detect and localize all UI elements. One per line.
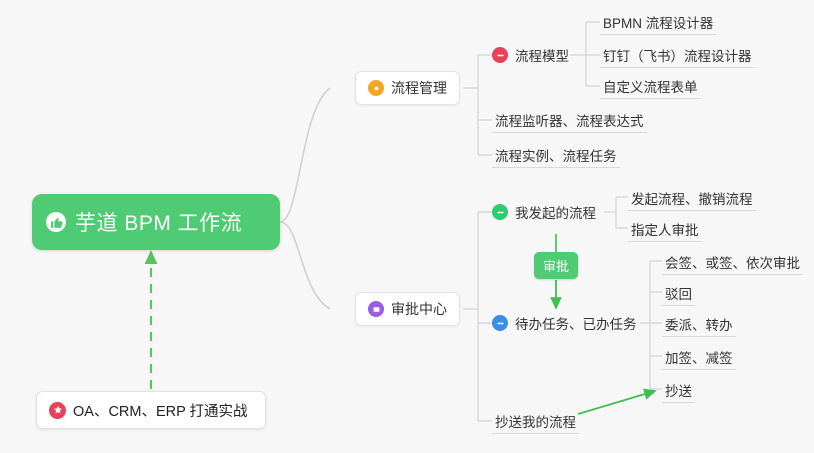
node-label: 流程模型 [515,45,569,65]
node-label: 我发起的流程 [515,202,596,222]
node-listener-expression[interactable]: 流程监听器、流程表达式 [492,107,647,133]
node-label: 抄送 [665,380,692,400]
thumbs-up-icon [46,212,66,232]
node-my-started-process[interactable]: 我发起的流程 [492,199,596,225]
tag-approve[interactable]: 审批 [534,252,578,279]
node-label: 自定义流程表单 [603,76,698,96]
node-add-remove-sign[interactable]: 加签、减签 [662,344,736,370]
minus-circle-icon [492,315,508,331]
node-label: 驳回 [665,283,692,303]
node-process-model[interactable]: 流程模型 [492,42,569,68]
node-bpmn-designer[interactable]: BPMN 流程设计器 [600,9,716,35]
root-node[interactable]: 芋道 BPM 工作流 [32,194,280,250]
location-pin-icon [368,80,384,96]
node-custom-process-form[interactable]: 自定义流程表单 [600,73,701,99]
node-reject[interactable]: 驳回 [662,280,695,306]
node-label: 待办任务、已办任务 [515,313,637,333]
minus-circle-icon [492,47,508,63]
minus-circle-icon [492,204,508,220]
node-label: 会签、或签、依次审批 [665,252,800,272]
node-label: 指定人审批 [631,219,699,239]
root-label: 芋道 BPM 工作流 [75,207,242,237]
node-multi-sign[interactable]: 会签、或签、依次审批 [662,249,803,275]
node-instance-task[interactable]: 流程实例、流程任务 [492,142,620,168]
branch-label: 审批中心 [391,299,447,319]
branch-label: 流程管理 [391,78,447,98]
node-cc-to-me[interactable]: 抄送我的流程 [492,408,579,434]
node-cc[interactable]: 抄送 [662,377,695,403]
bottom-note-label: OA、CRM、ERP 打通实战 [73,400,248,421]
bottom-note[interactable]: OA、CRM、ERP 打通实战 [36,391,266,429]
node-label: 委派、转办 [665,314,733,334]
node-label: 发起流程、撤销流程 [631,188,753,208]
node-assign-approver[interactable]: 指定人审批 [628,216,702,242]
node-dingtalk-feishu-designer[interactable]: 钉钉（飞书）流程设计器 [600,42,755,68]
node-label: 钉钉（飞书）流程设计器 [603,45,752,65]
branch-process-management[interactable]: 流程管理 [355,71,460,105]
node-label: 流程实例、流程任务 [495,145,617,165]
mindmap-canvas: 芋道 BPM 工作流 流程管理 流程模型 BPMN 流程设计器 钉钉（飞书）流程… [0,0,814,453]
node-label: 抄送我的流程 [495,411,576,431]
node-start-cancel[interactable]: 发起流程、撤销流程 [628,185,756,211]
node-label: 流程监听器、流程表达式 [495,110,644,130]
node-todo-done-tasks[interactable]: 待办任务、已办任务 [492,310,637,336]
node-delegate-transfer[interactable]: 委派、转办 [662,311,736,337]
message-circle-icon [368,301,384,317]
node-label: 加签、减签 [665,347,733,367]
node-label: BPMN 流程设计器 [603,12,713,32]
star-circle-icon [49,402,66,419]
branch-approval-center[interactable]: 审批中心 [355,292,460,326]
